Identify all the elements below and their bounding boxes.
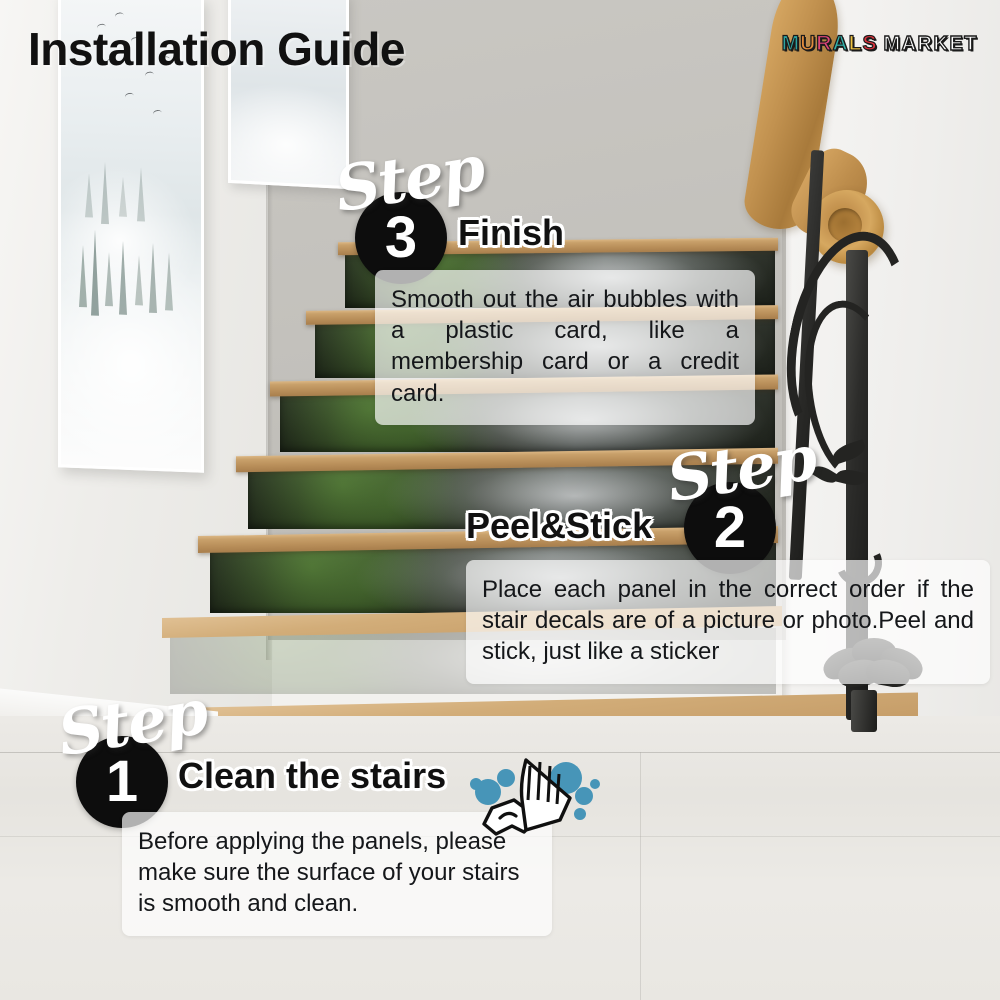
logo-letter: L — [849, 32, 863, 56]
logo-letter: M — [782, 32, 801, 56]
logo-letter: R — [816, 32, 832, 56]
logo-letter: U — [800, 32, 816, 56]
hand-wiping-cloth-icon — [462, 748, 602, 844]
floor-tile-line — [640, 752, 641, 1000]
installation-guide-page: Installation Guide MURALS MARKET Step 3 … — [0, 0, 1000, 1000]
step-1-heading: Clean the stairs — [178, 755, 446, 797]
logo-letter: S — [862, 32, 877, 56]
step-3-description: Smooth out the air bubbles with a plasti… — [375, 270, 755, 425]
step-3-heading: Finish — [458, 212, 564, 254]
logo-murals: MURALS — [782, 32, 878, 56]
page-title: Installation Guide — [28, 22, 405, 76]
logo-market: MARKET — [883, 33, 978, 56]
iron-post-base — [851, 690, 877, 732]
step-2-heading: Peel&Stick — [466, 505, 652, 547]
brand-logo[interactable]: MURALS MARKET — [782, 32, 978, 56]
step-2-description: Place each panel in the correct order if… — [466, 560, 990, 684]
logo-letter: A — [832, 32, 848, 56]
